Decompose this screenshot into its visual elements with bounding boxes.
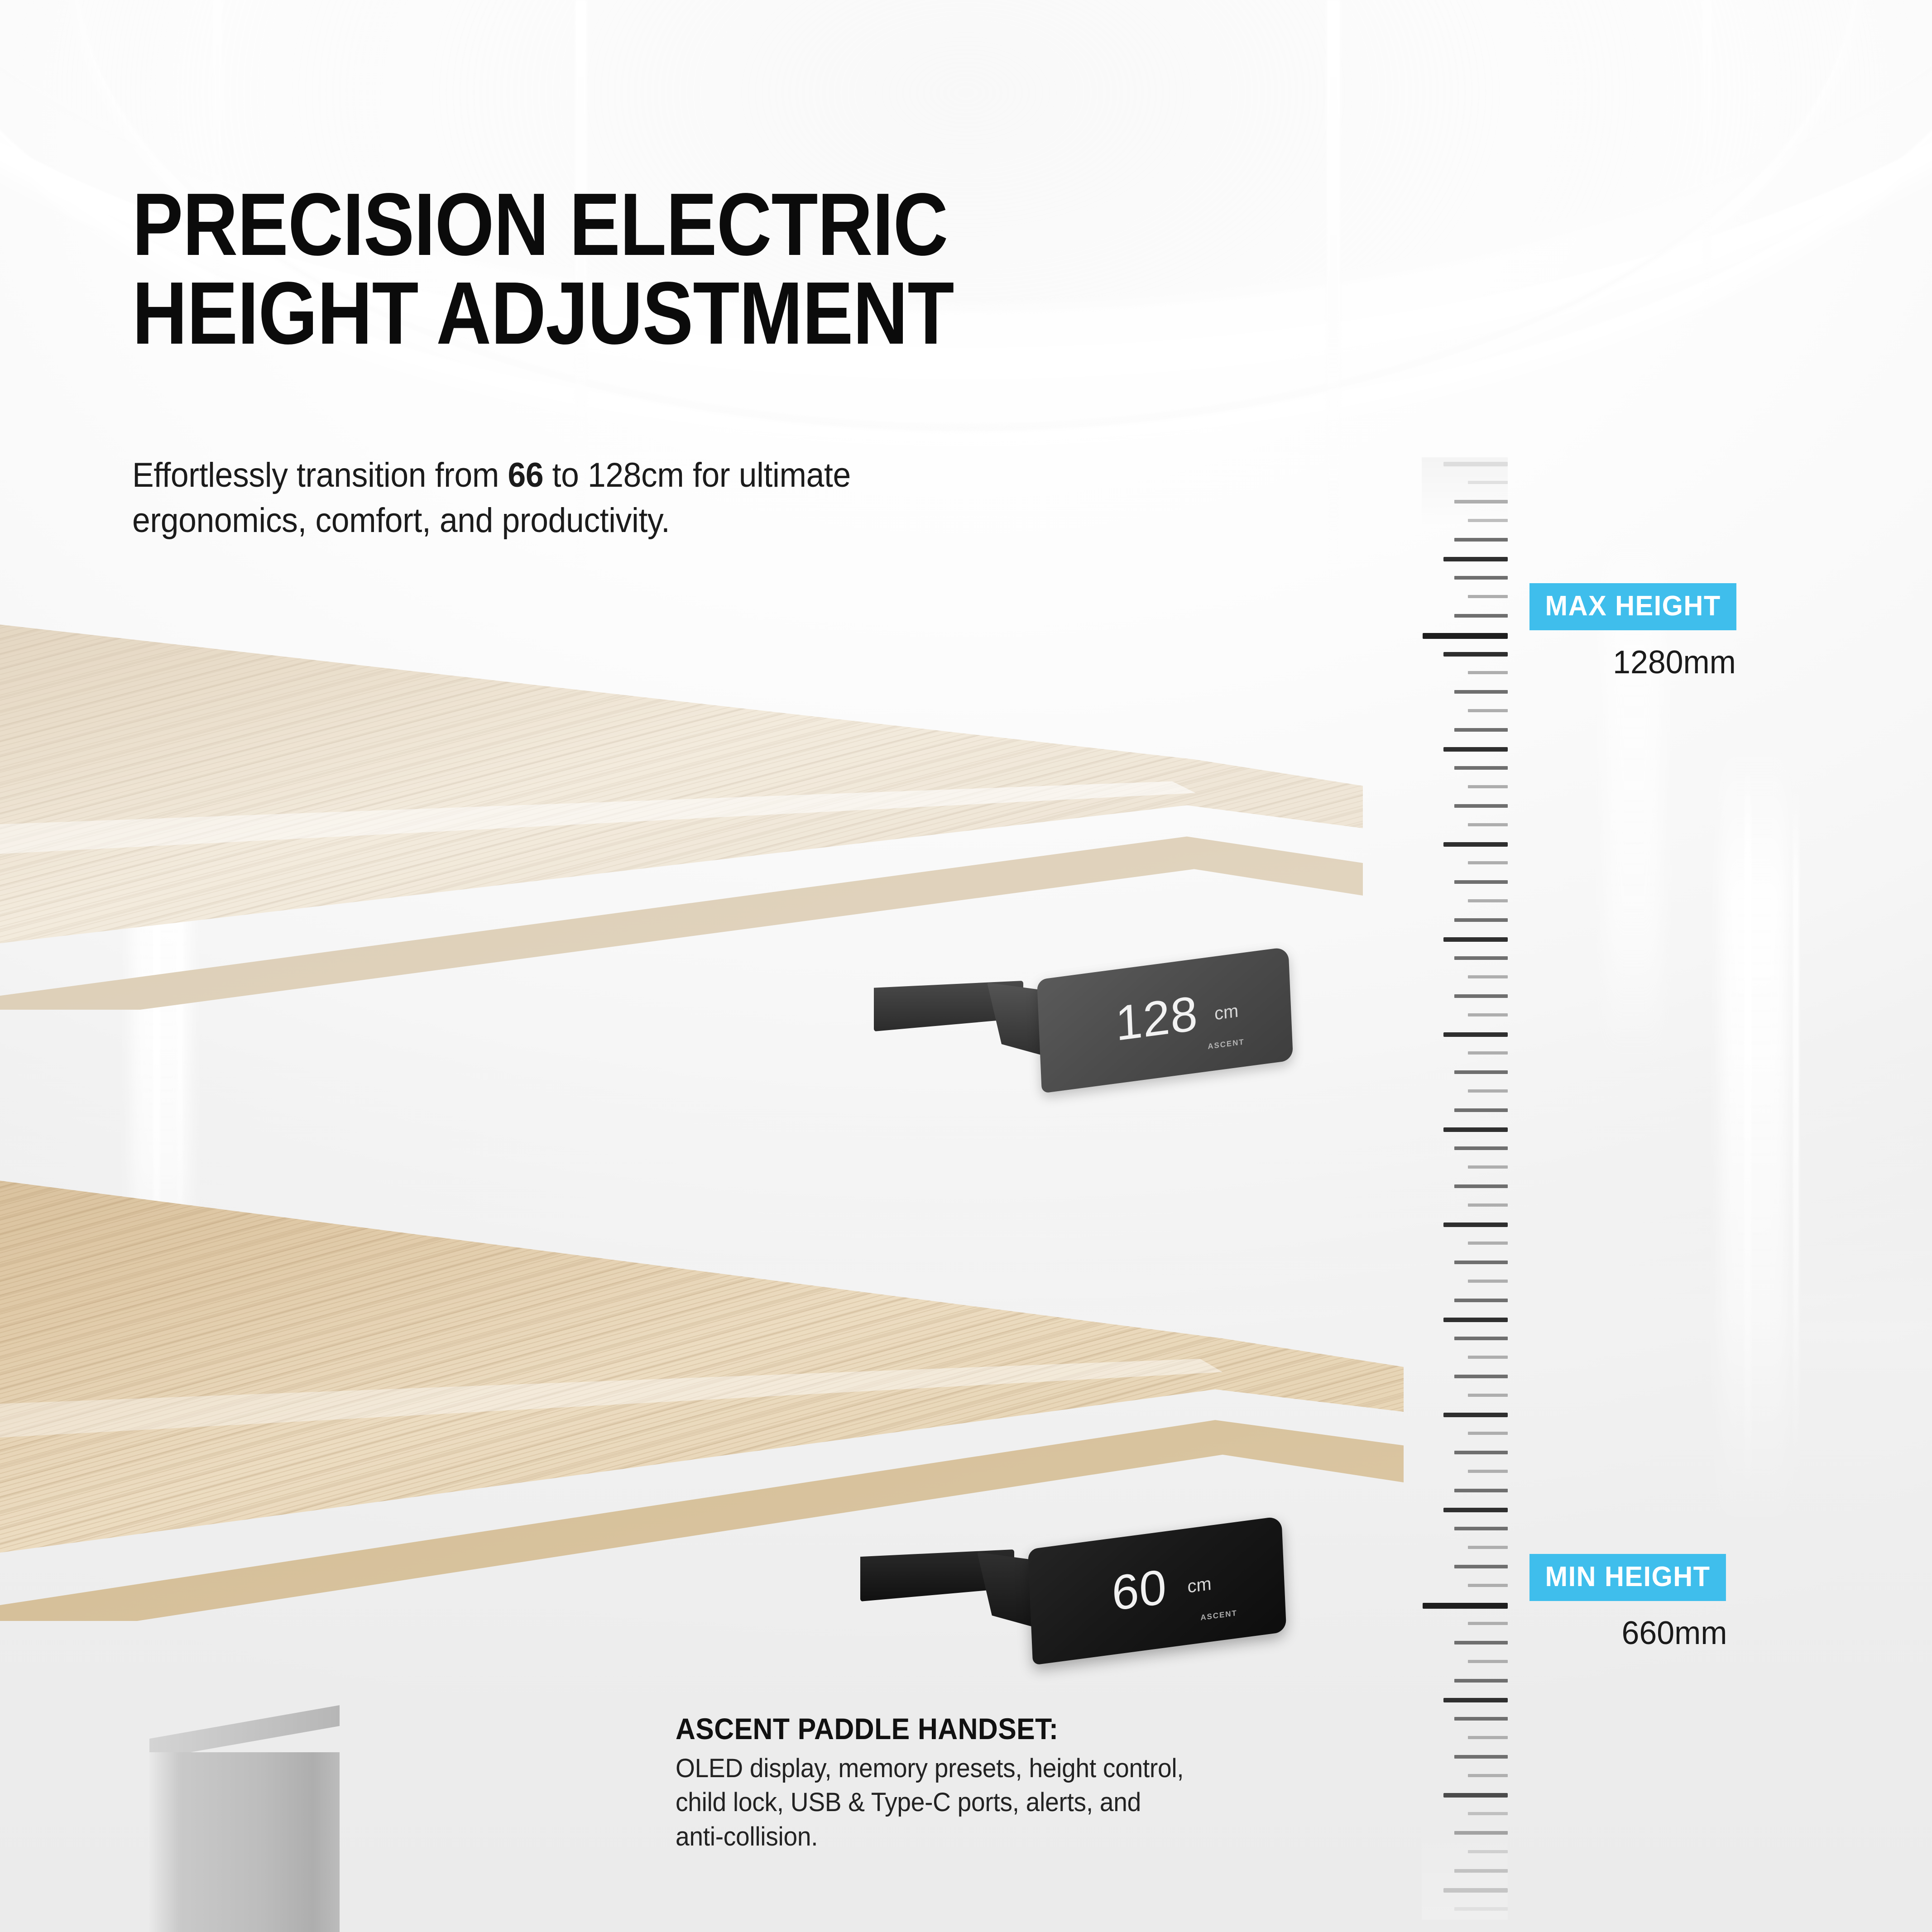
- handset-lower-height-value: 60: [1111, 1558, 1168, 1621]
- ruler-major-tick: [1443, 557, 1508, 561]
- ruler-tick: [1468, 1356, 1508, 1359]
- ruler-tick: [1454, 500, 1508, 503]
- handset-upper-height-unit: cm: [1214, 1001, 1239, 1024]
- page-title: PRECISION ELECTRIC HEIGHT ADJUSTMENT: [132, 180, 1067, 358]
- subtitle: Effortlessly transition from 66 to 128cm…: [132, 453, 1026, 544]
- min-height-badge: MIN HEIGHT: [1529, 1554, 1726, 1601]
- ruler-tick: [1454, 728, 1508, 732]
- ruler-major-tick: [1443, 462, 1508, 466]
- caption-title: ASCENT PADDLE HANDSET:: [676, 1711, 1325, 1746]
- max-height-value: 1280mm: [1534, 644, 1815, 681]
- ruler-major-tick: [1443, 1032, 1508, 1037]
- ruler-major-tick: [1443, 747, 1508, 752]
- ruler-tick: [1454, 1375, 1508, 1378]
- min-height-value: 660mm: [1534, 1615, 1815, 1652]
- ruler-tick: [1468, 861, 1508, 864]
- ruler-tick: [1468, 1203, 1508, 1207]
- ruler-major-tick: [1443, 1888, 1508, 1893]
- ruler-tick: [1468, 519, 1508, 522]
- ruler-tick: [1454, 1679, 1508, 1683]
- ruler-tick: [1468, 481, 1508, 484]
- ruler-tick: [1454, 1527, 1508, 1530]
- ruler-major-tick: [1443, 1222, 1508, 1227]
- ruler-tick: [1454, 956, 1508, 960]
- handset-lower[interactable]: 60 cm ASCENT: [860, 1539, 1222, 1693]
- ruler-tick: [1468, 671, 1508, 674]
- subtitle-part-1: Effortlessly transition from: [132, 456, 508, 494]
- ruler-major-tick: [1443, 1413, 1508, 1417]
- max-height-callout: MAX HEIGHT 1280mm: [1529, 583, 1819, 681]
- ruler-tick: [1468, 709, 1508, 712]
- ruler-tick: [1454, 614, 1508, 618]
- ruler-fade-bottom: [1422, 1802, 1508, 1920]
- handset-upper-height-value: 128: [1114, 984, 1199, 1052]
- ruler-tick: [1454, 576, 1508, 580]
- ruler-tick: [1454, 690, 1508, 694]
- ruler-tick: [1468, 1546, 1508, 1549]
- ruler-major-tick-min: [1423, 1603, 1508, 1609]
- ruler-tick: [1468, 1242, 1508, 1245]
- handset-upper[interactable]: 128 cm ASCENT: [874, 969, 1227, 1118]
- ceiling-slat: [1702, 0, 1711, 317]
- ruler-tick: [1454, 766, 1508, 770]
- ruler-tick: [1468, 785, 1508, 788]
- ruler-tick: [1468, 1394, 1508, 1397]
- product-feature-graphic: 128 cm ASCENT 60 cm ASCENT PRECISION ELE…: [0, 0, 1932, 1932]
- ruler-tick: [1468, 1774, 1508, 1777]
- ruler-tick: [1454, 1070, 1508, 1074]
- ruler-tick: [1454, 1489, 1508, 1492]
- ruler-major-tick: [1443, 1127, 1508, 1132]
- ruler-tick: [1468, 1051, 1508, 1055]
- max-height-badge: MAX HEIGHT: [1529, 583, 1736, 630]
- ruler-tick: [1468, 1280, 1508, 1283]
- ruler-tick: [1454, 1717, 1508, 1721]
- ruler-tick: [1468, 1165, 1508, 1169]
- ruler-major-tick: [1443, 1508, 1508, 1512]
- ruler-tick: [1468, 1013, 1508, 1016]
- ruler-tick: [1454, 1641, 1508, 1644]
- min-height-callout: MIN HEIGHT 660mm: [1529, 1554, 1819, 1652]
- ruler-tick: [1454, 918, 1508, 922]
- ruler-major-tick: [1443, 1318, 1508, 1322]
- ruler-tick: [1454, 1451, 1508, 1454]
- ruler-tick: [1468, 1432, 1508, 1435]
- ruler-tick: [1454, 804, 1508, 808]
- ruler-tick: [1454, 1755, 1508, 1759]
- desk-leg-column: [149, 1752, 340, 1932]
- ruler-tick: [1468, 899, 1508, 902]
- ruler-tick: [1454, 1907, 1508, 1911]
- height-scale-ruler: [1422, 457, 1508, 1920]
- ruler-tick: [1468, 1584, 1508, 1587]
- ruler-major-tick: [1443, 937, 1508, 942]
- ruler-tick: [1468, 595, 1508, 598]
- ruler-tick: [1454, 1831, 1508, 1835]
- ruler-tick: [1454, 1565, 1508, 1568]
- ruler-tick: [1468, 975, 1508, 978]
- ruler-tick: [1454, 880, 1508, 884]
- ruler-tick: [1468, 823, 1508, 826]
- handset-upper-brand-wordmark: ASCENT: [1208, 1037, 1245, 1051]
- ruler-tick: [1468, 1089, 1508, 1093]
- ruler-tick: [1454, 994, 1508, 998]
- ruler-tick: [1454, 1184, 1508, 1188]
- ruler-tick: [1454, 1337, 1508, 1340]
- handset-lower-brand-wordmark: ASCENT: [1200, 1609, 1237, 1623]
- handset-feature-caption: ASCENT PADDLE HANDSET: OLED display, mem…: [676, 1711, 1382, 1854]
- ruler-tick: [1454, 1261, 1508, 1264]
- ruler-tick: [1468, 1470, 1508, 1473]
- ruler-major-tick-max: [1423, 633, 1508, 639]
- ruler-major-tick: [1443, 1793, 1508, 1798]
- ruler-fade-top: [1422, 457, 1508, 525]
- ceiling-slat: [1327, 0, 1340, 566]
- ruler-tick: [1454, 538, 1508, 542]
- subtitle-emphasis-value: 66: [508, 456, 543, 494]
- ruler-tick: [1468, 1812, 1508, 1815]
- ruler-major-tick: [1443, 1698, 1508, 1702]
- ruler-major-tick: [1443, 652, 1508, 657]
- ruler-major-tick: [1443, 842, 1508, 847]
- ruler-tick: [1468, 1736, 1508, 1739]
- caption-body: OLED display, memory presets, height con…: [676, 1751, 1347, 1854]
- ruler-tick: [1468, 1622, 1508, 1625]
- handset-lower-height-unit: cm: [1187, 1574, 1212, 1597]
- ruler-tick: [1454, 1108, 1508, 1112]
- ruler-tick: [1454, 1299, 1508, 1302]
- ruler-tick: [1468, 1660, 1508, 1663]
- ruler-tick: [1454, 1869, 1508, 1873]
- ruler-tick: [1468, 1850, 1508, 1853]
- ruler-tick: [1454, 1146, 1508, 1150]
